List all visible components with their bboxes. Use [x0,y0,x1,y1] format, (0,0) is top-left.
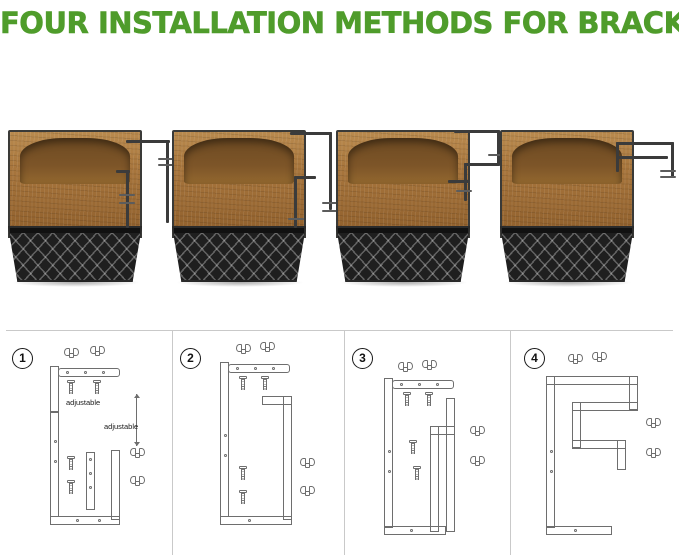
wingnut-icon [398,362,413,373]
method-2: 2 [176,330,346,555]
planter-photo-row [0,110,679,310]
bracket-top-arm [262,396,292,405]
bracket-lower-post [617,440,626,470]
screw-icon [240,376,245,391]
liner-cavity [512,138,621,184]
bracket-rear-post [283,396,292,520]
liner-cavity [348,138,457,184]
coco-liner-basket [500,130,634,238]
coco-liner-basket [8,130,142,238]
wingnut-icon [236,344,251,355]
method-4: 4 [514,330,679,555]
drop-shadow [12,278,140,287]
wingnut-icon [646,448,661,459]
metal-cage [336,226,470,282]
lattice-mesh [8,226,142,282]
coco-liner-basket [172,130,306,238]
planter-photo-2 [172,118,322,303]
wingnut-icon [130,476,145,487]
method-1: 1 [6,330,176,555]
wingnut-icon [260,342,275,353]
liner-cavity [20,138,129,184]
wingnut-icon [422,360,437,371]
coco-liner-basket [336,130,470,238]
cage-rim [502,228,634,233]
wingnut-icon [646,418,661,429]
wingnut-icon [470,456,485,467]
liner-cavity [184,138,293,184]
cage-rim [10,228,142,233]
page-title: FOUR INSTALLATION METHODS FOR BRACKET [0,6,679,40]
metal-cage [500,226,634,282]
cage-rim [338,228,470,233]
adjustable-arrow-1 [136,394,137,446]
metal-cage [8,226,142,282]
step-badge-4: 4 [524,348,545,369]
planter-photo-1 [8,118,158,303]
screw-icon [404,392,409,407]
bracket-foot [220,516,292,525]
bracket-rear-post [111,450,120,520]
screw-icon [410,440,415,455]
wingnut-icon [568,354,583,365]
top-rail [546,376,638,385]
wingnut-icon [90,346,105,357]
bracket-upright-top [50,366,59,412]
screw-icon [240,466,245,481]
screw-icon [94,380,99,395]
wingnut-icon [470,426,485,437]
lattice-mesh [500,226,634,282]
screw-icon [68,380,73,395]
planter-photo-4 [500,118,650,303]
wingnut-icon [300,486,315,497]
planter-photo-3 [336,118,486,303]
screw-icon [414,466,419,481]
wingnut-icon [300,458,315,469]
cage-rim [174,228,306,233]
screw-icon [68,456,73,471]
bracket-upright [220,362,229,517]
drop-shadow [340,278,468,287]
lattice-mesh [336,226,470,282]
screw-icon [68,480,73,495]
bracket-foot [546,526,612,535]
step-badge-2: 2 [180,348,201,369]
bracket-rear-post [446,398,455,532]
screw-icon [426,392,431,407]
wingnut-icon [130,448,145,459]
drop-shadow [504,278,632,287]
bracket-mid-rail [572,402,638,411]
step-badge-1: 1 [12,348,33,369]
page-root: FOUR INSTALLATION METHODS FOR BRACKET [0,0,679,555]
adjustable-label-2: adjustable [104,422,138,431]
bracket-arm [430,426,455,435]
method-3: 3 [348,330,518,555]
step-badge-3: 3 [352,348,373,369]
adjustable-label-1: adjustable [66,398,100,407]
bracket-upright-lower [50,412,59,517]
drop-shadow [176,278,304,287]
metal-cage [172,226,306,282]
wingnut-icon [592,352,607,363]
lattice-mesh [172,226,306,282]
screw-icon [240,490,245,505]
screw-icon [262,376,267,391]
installation-methods-row: 1 [0,330,679,555]
bracket-inner-post [430,426,439,532]
wingnut-icon [64,348,79,359]
bracket-foot [50,516,120,525]
